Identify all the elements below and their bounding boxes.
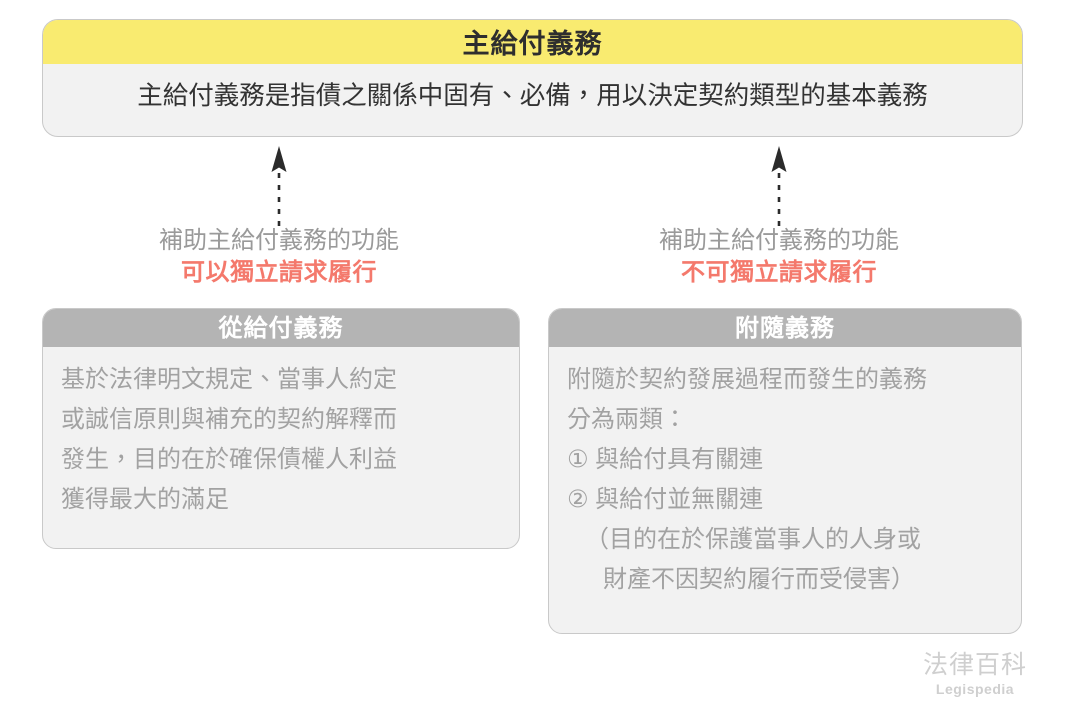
connector-caption-right-function: 補助主給付義務的功能 bbox=[569, 225, 989, 257]
accessory-performance-card: 從給付義務 基於法律明文規定、當事人約定 或誠信原則與補充的契約解釋而 發生，目… bbox=[42, 308, 520, 549]
card-text-line: 發生，目的在於確保債權人利益 bbox=[61, 440, 501, 480]
card-list-item-2: ② 與給付並無關連 bbox=[567, 480, 1003, 520]
accessory-performance-card-body: 基於法律明文規定、當事人約定 或誠信原則與補充的契約解釋而 發生，目的在於確保債… bbox=[43, 347, 519, 520]
connector-caption-right-enforceability: 不可獨立請求履行 bbox=[569, 257, 989, 289]
connector-caption-left: 補助主給付義務的功能 可以獨立請求履行 bbox=[69, 225, 489, 289]
card-text-line: 附隨於契約發展過程而發生的義務 bbox=[567, 360, 1003, 400]
card-text-line: 獲得最大的滿足 bbox=[61, 480, 501, 520]
connector-caption-right: 補助主給付義務的功能 不可獨立請求履行 bbox=[569, 225, 989, 289]
connector-caption-left-enforceability: 可以獨立請求履行 bbox=[69, 257, 489, 289]
connector-caption-left-function: 補助主給付義務的功能 bbox=[69, 225, 489, 257]
main-obligation-card: 主給付義務 主給付義務是指債之關係中固有、必備，用以決定契約類型的基本義務 bbox=[42, 19, 1023, 137]
card-text-line: （目的在於保護當事人的人身或 bbox=[567, 520, 1003, 560]
card-text-line: 基於法律明文規定、當事人約定 bbox=[61, 360, 501, 400]
card-text-line: 財產不因契約履行而受侵害） bbox=[567, 560, 1003, 600]
diagram-canvas: 主給付義務 主給付義務是指債之關係中固有、必備，用以決定契約類型的基本義務 補助… bbox=[0, 0, 1065, 710]
watermark-chinese: 法律百科 bbox=[923, 650, 1027, 680]
accessory-performance-card-header: 從給付義務 bbox=[43, 309, 519, 347]
main-obligation-card-body: 主給付義務是指債之關係中固有、必備，用以決定契約類型的基本義務 bbox=[43, 64, 1022, 111]
ancillary-obligation-card-body: 附隨於契約發展過程而發生的義務 分為兩類： ① 與給付具有關連 ② 與給付並無關… bbox=[549, 347, 1021, 600]
watermark-english: Legispedia bbox=[923, 680, 1027, 698]
main-obligation-card-header: 主給付義務 bbox=[43, 20, 1022, 64]
card-text-line: 分為兩類： bbox=[567, 400, 1003, 440]
watermark-logo: 法律百科 Legispedia bbox=[923, 650, 1027, 698]
ancillary-obligation-card-header: 附隨義務 bbox=[549, 309, 1021, 347]
card-list-item-1: ① 與給付具有關連 bbox=[567, 440, 1003, 480]
card-text-line: 或誠信原則與補充的契約解釋而 bbox=[61, 400, 501, 440]
ancillary-obligation-card: 附隨義務 附隨於契約發展過程而發生的義務 分為兩類： ① 與給付具有關連 ② 與… bbox=[548, 308, 1022, 634]
